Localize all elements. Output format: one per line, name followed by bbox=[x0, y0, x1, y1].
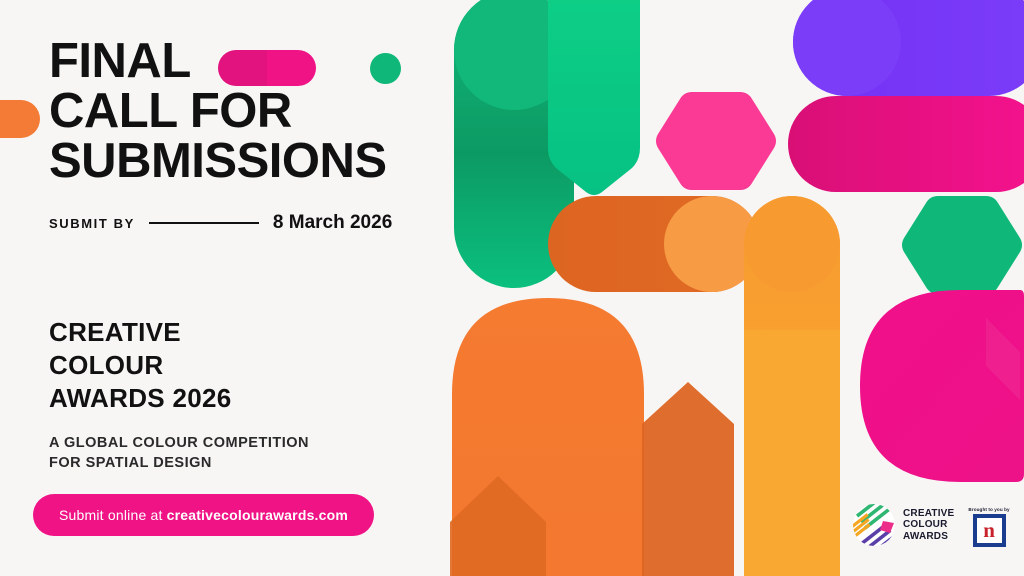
tagline-line-2: FOR SPATIAL DESIGN bbox=[49, 453, 419, 473]
awards-title-line-2: COLOUR bbox=[49, 349, 419, 382]
sponsor-letter: n bbox=[983, 520, 995, 541]
awards-title-line-1: CREATIVE bbox=[49, 316, 419, 349]
headline-line-3: SUBMISSIONS bbox=[49, 136, 429, 186]
awards-wordmark: CREATIVE COLOUR AWARDS bbox=[903, 508, 954, 543]
sponsor-logo: Brought to you by n bbox=[968, 507, 1009, 547]
deadline-divider bbox=[149, 222, 259, 224]
shape-pink-blob bbox=[860, 290, 1024, 482]
deadline-label: SUBMIT BY bbox=[49, 216, 135, 231]
sponsor-mark-inner: n bbox=[977, 518, 1002, 543]
headline: FINAL CALL FOR SUBMISSIONS bbox=[49, 36, 429, 186]
awards-wordmark-line-3: AWARDS bbox=[903, 531, 954, 543]
logo-lockup: CREATIVE COLOUR AWARDS Brought to you by… bbox=[852, 503, 1010, 547]
cta-prefix: Submit online at bbox=[59, 507, 163, 523]
deadline-date: 8 March 2026 bbox=[273, 212, 392, 234]
shape-green-hexagon bbox=[902, 196, 1022, 294]
shape-orange-house-large bbox=[642, 382, 734, 576]
promotional-poster: FINAL CALL FOR SUBMISSIONS SUBMIT BY 8 M… bbox=[0, 0, 1024, 576]
tagline-line-1: A GLOBAL COLOUR COMPETITION bbox=[49, 433, 419, 453]
awards-title-line-3: AWARDS 2026 bbox=[49, 382, 419, 415]
shape-amber-column-foot bbox=[744, 330, 840, 576]
cta-url: creativecolourawards.com bbox=[167, 507, 348, 523]
tagline: A GLOBAL COLOUR COMPETITION FOR SPATIAL … bbox=[49, 433, 419, 473]
awards-mark-icon bbox=[852, 503, 896, 547]
shape-amber-circle bbox=[744, 196, 840, 292]
headline-line-1: FINAL bbox=[49, 36, 429, 86]
geometric-artwork bbox=[430, 0, 1024, 576]
submit-online-button[interactable]: Submit online at creativecolourawards.co… bbox=[33, 494, 374, 536]
deadline-row: SUBMIT BY 8 March 2026 bbox=[49, 212, 409, 234]
accent-chip-orange bbox=[0, 100, 40, 138]
creative-colour-awards-logo: CREATIVE COLOUR AWARDS bbox=[852, 503, 954, 547]
artwork-svg bbox=[430, 0, 1024, 576]
sponsor-mark-icon: n bbox=[973, 514, 1006, 547]
shape-green-column-pointed bbox=[548, 0, 640, 195]
shape-pink-hexagon bbox=[656, 92, 776, 190]
shape-pink-bar bbox=[788, 96, 1024, 192]
sponsor-kicker: Brought to you by bbox=[968, 507, 1009, 512]
headline-line-2: CALL FOR bbox=[49, 86, 429, 136]
awards-title: CREATIVE COLOUR AWARDS 2026 bbox=[49, 316, 419, 415]
awards-wordmark-line-1: CREATIVE bbox=[903, 508, 954, 520]
awards-wordmark-line-2: COLOUR bbox=[903, 519, 954, 531]
